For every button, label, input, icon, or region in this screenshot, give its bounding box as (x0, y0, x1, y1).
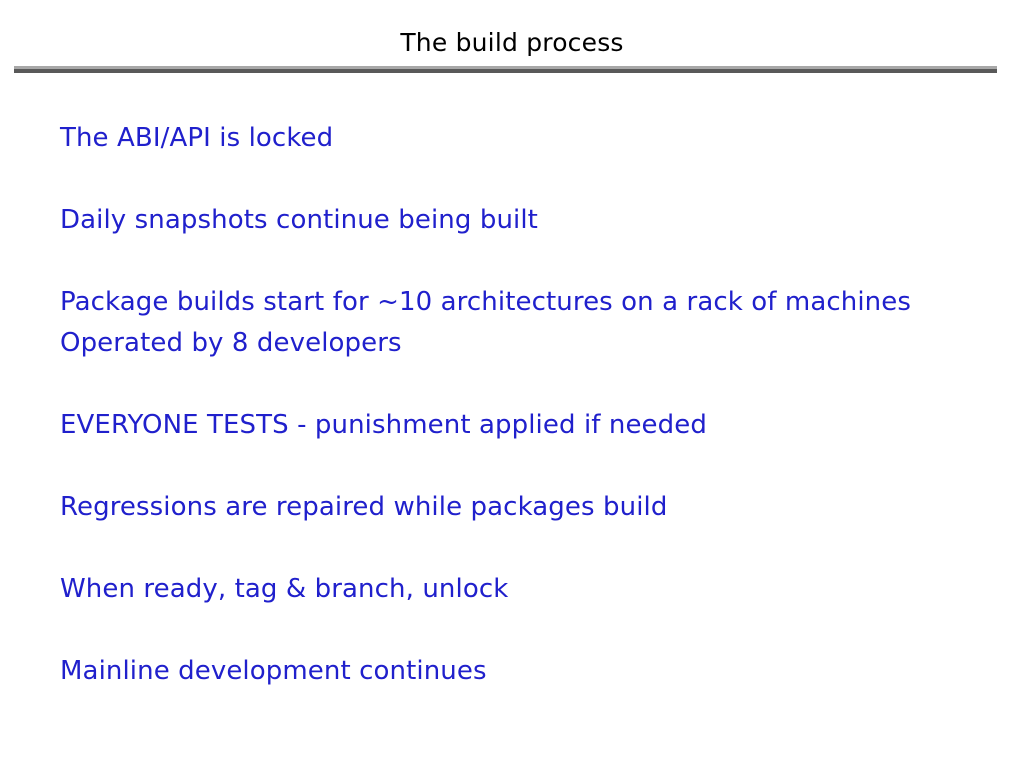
bullet-block-package-builds: Package builds start for ~10 architectur… (60, 282, 1000, 364)
bullet-line: When ready, tag & branch, unlock (60, 569, 1000, 610)
bullet-block-regressions-repaired: Regressions are repaired while packages … (60, 487, 1000, 528)
presentation-slide: The build process The ABI/API is locked … (0, 0, 1024, 768)
slide-body: The ABI/API is locked Daily snapshots co… (60, 118, 1000, 692)
bullet-line: Package builds start for ~10 architectur… (60, 282, 1000, 323)
bullet-block-everyone-tests: EVERYONE TESTS - punishment applied if n… (60, 405, 1000, 446)
slide-title: The build process (0, 28, 1024, 58)
bullet-line: Operated by 8 developers (60, 323, 1000, 364)
title-divider-rule (14, 66, 997, 73)
bullet-block-abi-api-locked: The ABI/API is locked (60, 118, 1000, 159)
bullet-line: EVERYONE TESTS - punishment applied if n… (60, 405, 1000, 446)
bullet-line: Daily snapshots continue being built (60, 200, 1000, 241)
bullet-block-tag-branch-unlock: When ready, tag & branch, unlock (60, 569, 1000, 610)
title-divider-shadow (14, 69, 997, 73)
bullet-line: Mainline development continues (60, 651, 1000, 692)
bullet-block-mainline-development: Mainline development continues (60, 651, 1000, 692)
bullet-block-daily-snapshots: Daily snapshots continue being built (60, 200, 1000, 241)
bullet-line: Regressions are repaired while packages … (60, 487, 1000, 528)
bullet-line: The ABI/API is locked (60, 118, 1000, 159)
